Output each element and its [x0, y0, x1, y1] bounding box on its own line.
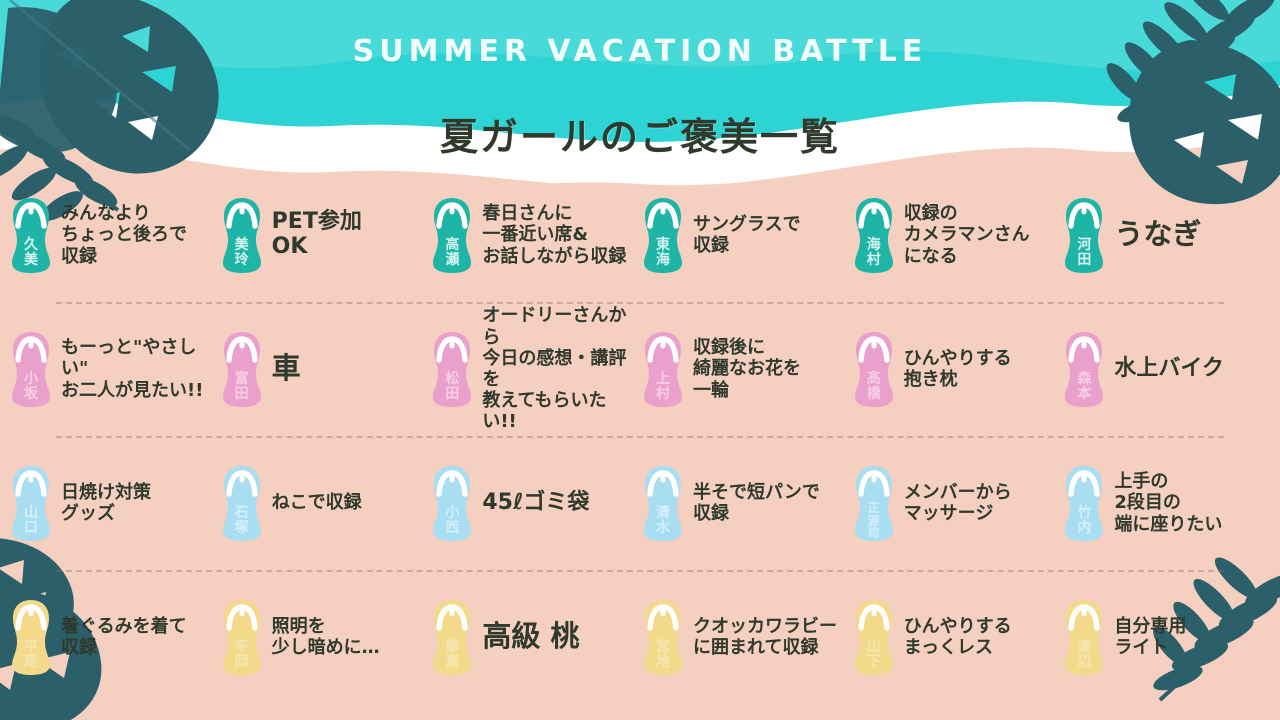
flip-flop-sandal: 高瀬: [429, 196, 475, 274]
member-name: 河田: [1061, 238, 1107, 267]
reward-text: クオッカワラビー に囲まれて収録: [693, 616, 837, 658]
reward-text: 日焼け対策 グッズ: [61, 482, 151, 524]
reward-text: メンバーから マッサージ: [904, 482, 1012, 524]
reward-text: 車: [272, 353, 301, 385]
member-name: 美玲: [219, 238, 265, 267]
reward-item[interactable]: 平岡照明を 少し暗めに…: [219, 598, 430, 676]
reward-text: PET参加 OK: [272, 210, 362, 259]
reward-row: 山口日焼け対策 グッズ 石塚ねこで収録 小西45ℓゴミ袋 清水半そで短パンで 収…: [0, 436, 1280, 570]
reward-item[interactable]: 小坂もーっと"やさしい" お二人が見たい!!: [8, 330, 219, 408]
reward-item[interactable]: 宮地クオッカワラビー に囲まれて収録: [640, 598, 851, 676]
reward-list: 久美みんなより ちょっと後ろで 収録 美玲PET参加 OK 高瀬春日さんに 一番…: [0, 168, 1280, 704]
reward-text: サングラスで 収録: [693, 214, 801, 256]
flip-flop-sandal: 富田: [219, 330, 265, 408]
reward-item[interactable]: 久美みんなより ちょっと後ろで 収録: [8, 196, 219, 274]
reward-row: 小坂もーっと"やさしい" お二人が見たい!! 富田車 松田オードリーさんから 今…: [0, 302, 1280, 436]
member-name: 山口: [8, 506, 54, 535]
flip-flop-sandal: 森本: [1061, 330, 1107, 408]
reward-text: 収録後に 綺麗なお花を 一輪: [693, 337, 801, 401]
reward-text: 着ぐるみを着て 収録: [61, 616, 187, 658]
member-name: 石塚: [219, 506, 265, 535]
reward-item[interactable]: 正源司メンバーから マッサージ: [851, 464, 1062, 542]
reward-text: みんなより ちょっと後ろで 収録: [61, 203, 187, 267]
reward-item[interactable]: 山下ひんやりする まっくレス: [851, 598, 1062, 676]
reward-item[interactable]: 美玲PET参加 OK: [219, 196, 430, 274]
flip-flop-sandal: 宮地: [640, 598, 686, 676]
reward-item[interactable]: 竹内上手の 2段目の 端に座りたい: [1061, 464, 1272, 542]
member-name: 高瀬: [429, 238, 475, 267]
reward-row: 平尾着ぐるみを着て 収録 平岡照明を 少し暗めに… 藤嶌高級 桃 宮地クオッカワ…: [0, 570, 1280, 704]
member-name: 久美: [8, 238, 54, 267]
flip-flop-sandal: 東海: [640, 196, 686, 274]
flip-flop-sandal: 清水: [640, 464, 686, 542]
member-name: 山下: [851, 640, 897, 669]
member-name: 平尾: [8, 640, 54, 669]
reward-row: 久美みんなより ちょっと後ろで 収録 美玲PET参加 OK 高瀬春日さんに 一番…: [0, 168, 1280, 302]
flip-flop-sandal: 平尾: [8, 598, 54, 676]
reward-item[interactable]: 小西45ℓゴミ袋: [429, 464, 640, 542]
reward-text: 春日さんに 一番近い席& お話しながら収録: [482, 203, 626, 267]
flip-flop-sandal: 海村: [851, 196, 897, 274]
flip-flop-sandal: 松田: [429, 330, 475, 408]
member-name: 平岡: [219, 640, 265, 669]
member-name: 小西: [429, 506, 475, 535]
flip-flop-sandal: 藤嶌: [429, 598, 475, 676]
reward-item[interactable]: 平尾着ぐるみを着て 収録: [8, 598, 219, 676]
reward-text: 半そで短パンで 収録: [693, 482, 820, 524]
flip-flop-sandal: 髙橋: [851, 330, 897, 408]
reward-text: ひんやりする 抱き枕: [904, 348, 1012, 390]
member-name: 正源司: [851, 502, 897, 539]
reward-item[interactable]: 海村収録の カメラマンさん になる: [851, 196, 1062, 274]
reward-text: ひんやりする まっくレス: [904, 616, 1012, 658]
flip-flop-sandal: 平岡: [219, 598, 265, 676]
reward-text: オードリーさんから 今日の感想・講評を 教えてもらいたい!!: [482, 305, 640, 432]
flip-flop-sandal: 正源司: [851, 464, 897, 542]
flip-flop-sandal: 河田: [1061, 196, 1107, 274]
member-name: 上村: [640, 372, 686, 401]
member-name: 富田: [219, 372, 265, 401]
member-name: 松田: [429, 372, 475, 401]
flip-flop-sandal: 美玲: [219, 196, 265, 274]
member-name: 髙橋: [851, 372, 897, 401]
flip-flop-sandal: 石塚: [219, 464, 265, 542]
reward-text: 照明を 少し暗めに…: [272, 616, 380, 658]
member-name: 藤嶌: [429, 640, 475, 669]
reward-item[interactable]: 森本水上バイク: [1061, 330, 1272, 408]
flip-flop-sandal: 山下: [851, 598, 897, 676]
poster-subtitle: 夏ガールのご褒美一覧: [0, 106, 1280, 161]
reward-text: 45ℓゴミ袋: [482, 491, 589, 516]
member-name: 森本: [1061, 372, 1107, 401]
reward-text: 上手の 2段目の 端に座りたい: [1114, 471, 1222, 535]
reward-item[interactable]: 河田うなぎ: [1061, 196, 1272, 274]
reward-item[interactable]: 松田オードリーさんから 今日の感想・講評を 教えてもらいたい!!: [429, 305, 640, 432]
flip-flop-sandal: 竹内: [1061, 464, 1107, 542]
reward-item[interactable]: 渡辺自分専用 ライト: [1061, 598, 1272, 676]
flip-flop-sandal: 小坂: [8, 330, 54, 408]
flip-flop-sandal: 上村: [640, 330, 686, 408]
reward-item[interactable]: 髙橋ひんやりする 抱き枕: [851, 330, 1062, 408]
flip-flop-sandal: 渡辺: [1061, 598, 1107, 676]
reward-item[interactable]: 山口日焼け対策 グッズ: [8, 464, 219, 542]
reward-text: ねこで収録: [272, 492, 362, 513]
flip-flop-sandal: 山口: [8, 464, 54, 542]
reward-item[interactable]: 清水半そで短パンで 収録: [640, 464, 851, 542]
reward-text: もーっと"やさしい" お二人が見たい!!: [61, 337, 219, 401]
reward-item[interactable]: 藤嶌高級 桃: [429, 598, 640, 676]
reward-item[interactable]: 東海サングラスで 収録: [640, 196, 851, 274]
member-name: 渡辺: [1061, 640, 1107, 669]
reward-item[interactable]: 富田車: [219, 330, 430, 408]
flip-flop-sandal: 小西: [429, 464, 475, 542]
reward-text: 自分専用 ライト: [1114, 616, 1186, 658]
reward-item[interactable]: 高瀬春日さんに 一番近い席& お話しながら収録: [429, 196, 640, 274]
reward-item[interactable]: 石塚ねこで収録: [219, 464, 430, 542]
reward-text: 水上バイク: [1114, 357, 1224, 382]
reward-text: 高級 桃: [482, 621, 579, 653]
member-name: 海村: [851, 238, 897, 267]
reward-text: うなぎ: [1114, 219, 1201, 251]
poster-title: SUMMER VACATION BATTLE: [0, 34, 1280, 69]
reward-item[interactable]: 上村収録後に 綺麗なお花を 一輪: [640, 330, 851, 408]
member-name: 清水: [640, 506, 686, 535]
poster-stage: SUMMER VACATION BATTLE 夏ガールのご褒美一覧 久美みんなよ…: [0, 0, 1280, 720]
member-name: 宮地: [640, 640, 686, 669]
member-name: 東海: [640, 238, 686, 267]
flip-flop-sandal: 久美: [8, 196, 54, 274]
reward-text: 収録の カメラマンさん になる: [904, 203, 1030, 267]
member-name: 小坂: [8, 372, 54, 401]
member-name: 竹内: [1061, 506, 1107, 535]
